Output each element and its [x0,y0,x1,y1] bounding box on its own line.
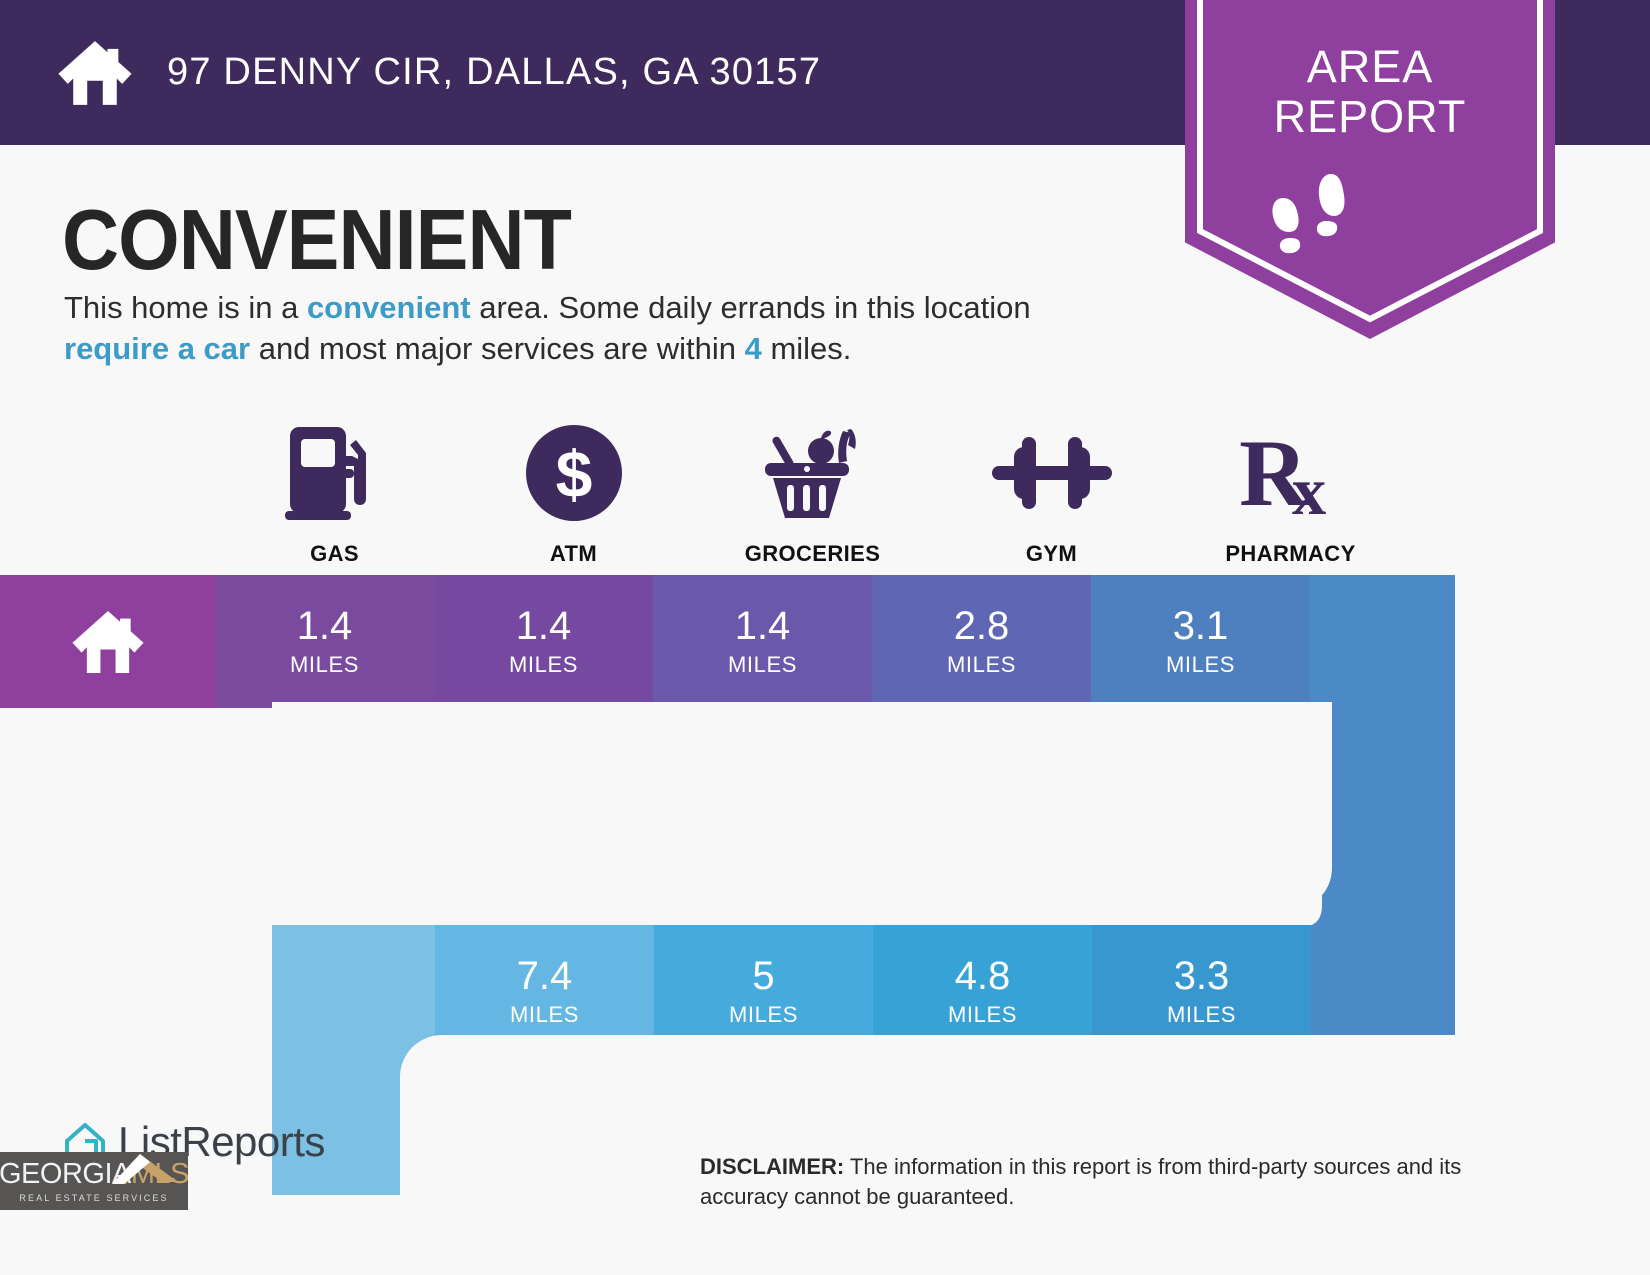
distance-value: 1.4 [735,606,791,646]
desc-part-4: miles. [762,331,852,366]
distance-unit: MILES [509,652,578,678]
amenity-label: GROCERIES [745,541,881,567]
desc-highlight-require-car: require a car [64,331,250,366]
svg-text:$: $ [555,437,592,511]
amenity-pharmacy: Rx PHARMACY [1171,418,1410,567]
distance-unit: MILES [290,652,359,678]
amenity-label: GYM [1026,541,1077,567]
distance-unit: MILES [947,652,1016,678]
amenity-groceries: GROCERIES [693,418,932,567]
desc-part-3: and most major services are within [250,331,744,366]
grocery-basket-icon [759,418,867,528]
distance-cell-pharmacy: 3.1 MILES [1091,575,1310,708]
badge-title: AREA REPORT [1185,42,1555,143]
snake-home-cell [0,575,215,708]
page-title: CONVENIENT [62,192,571,290]
desc-highlight-convenient: convenient [307,290,471,325]
snake-notch-upper [272,702,1332,910]
georgia-mls-roof-icon [110,1152,180,1186]
amenity-label: PHARMACY [1225,541,1355,567]
summary-description: This home is in a convenient area. Some … [64,287,1074,369]
property-address: 97 DENNY CIR, DALLAS, GA 30157 [167,51,821,94]
distance-unit: MILES [728,652,797,678]
home-icon [55,38,135,108]
footprints-icon [1265,170,1375,255]
distance-cell-gas: 1.4 MILES [215,575,434,708]
distance-value: 1.4 [516,606,572,646]
distance-value: 7.4 [517,956,573,996]
disclaimer-text: DISCLAIMER: The information in this repo… [700,1152,1520,1211]
distance-cell-atm: 1.4 MILES [434,575,653,708]
amenity-label: GAS [310,541,359,567]
distance-unit: MILES [1166,652,1235,678]
desc-part-1: This home is in a [64,290,307,325]
amenity-label: ATM [550,541,597,567]
georgia-mls-tagline: REAL ESTATE SERVICES [19,1193,168,1203]
desc-part-2: area. Some daily errands in this locatio… [471,290,1031,325]
distance-unit: MILES [510,1002,579,1028]
distance-unit: MILES [729,1002,798,1028]
amenity-icon-row-1: GAS $ ATM GROC [215,418,1410,567]
distance-bar-row-1: 1.4 MILES 1.4 MILES 1.4 MILES 2.8 MILES … [0,575,1455,708]
distance-value: 2.8 [954,606,1010,646]
distance-value: 1.4 [297,606,353,646]
distance-value: 5 [752,956,774,996]
desc-highlight-miles: 4 [745,331,762,366]
distance-unit: MILES [1167,1002,1236,1028]
amenity-gas: GAS [215,418,454,567]
badge-line-2: REPORT [1185,92,1555,142]
amenity-gym: GYM [932,418,1171,567]
distance-value: 3.3 [1174,956,1230,996]
rx-icon: Rx [1239,418,1342,528]
distance-value: 3.1 [1173,606,1229,646]
dumbbell-icon [992,418,1112,528]
home-icon [69,608,147,676]
dollar-circle-icon: $ [524,418,624,528]
disclaimer-label: DISCLAIMER: [700,1154,844,1179]
badge-line-1: AREA [1185,42,1555,92]
distance-unit: MILES [948,1002,1017,1028]
snake-row2-lead [272,925,435,1058]
distance-cell-gym: 2.8 MILES [872,575,1091,708]
snake-row1-tail [1310,575,1455,708]
gas-pump-icon [282,418,387,528]
distance-cell-groceries: 1.4 MILES [653,575,872,708]
amenity-atm: $ ATM [454,418,693,567]
distance-value: 4.8 [955,956,1011,996]
